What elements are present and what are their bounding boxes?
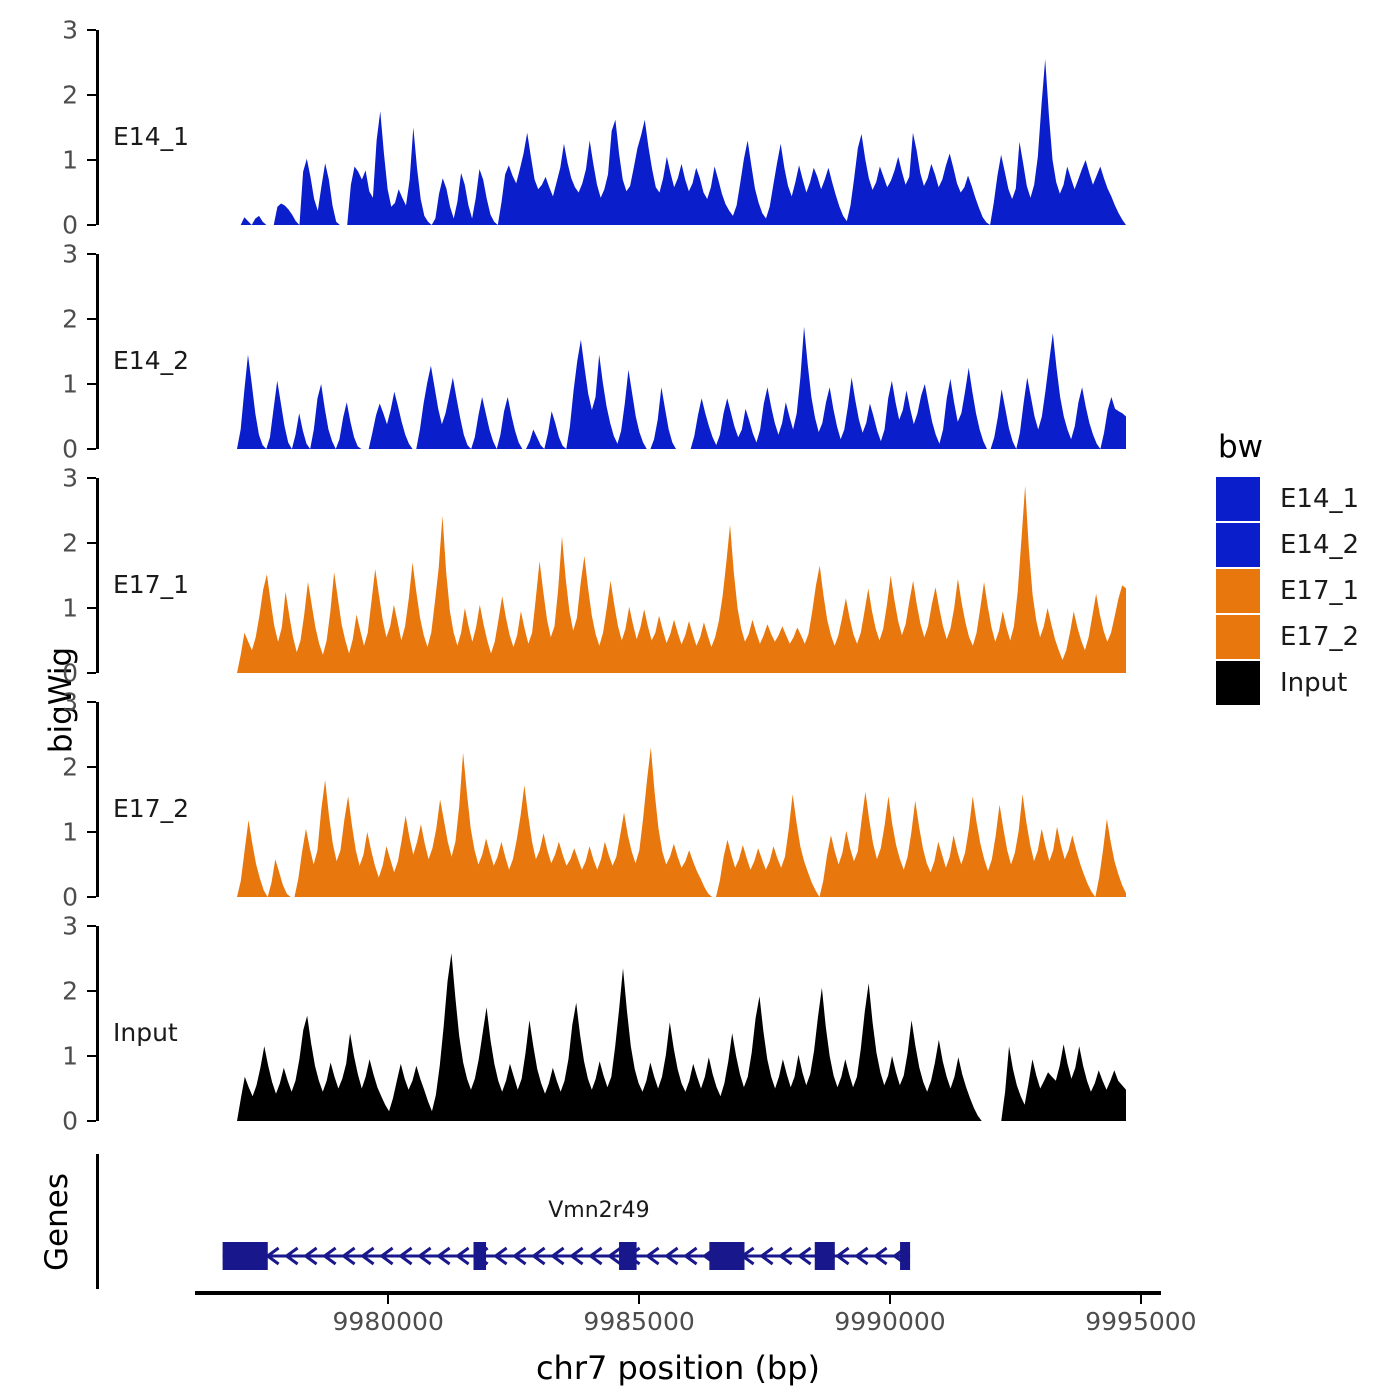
y-tick-label: 2 <box>38 531 78 556</box>
y-tick-label: 0 <box>38 437 78 462</box>
y-tick <box>87 477 96 479</box>
bigwig-track-e14_1: 0123E14_1 <box>96 30 1161 225</box>
track-area-plot <box>237 30 1126 225</box>
legend-color-swatch <box>1216 569 1260 613</box>
legend-title: bw <box>1218 432 1359 463</box>
x-tick-label: 9990000 <box>834 1307 945 1336</box>
y-tick <box>87 94 96 96</box>
y-tick <box>87 318 96 320</box>
legend-color-swatch <box>1216 477 1260 521</box>
y-tick <box>87 990 96 992</box>
track-area-path <box>237 327 1126 449</box>
track-name-label: E17_2 <box>113 794 189 823</box>
track-plot-area <box>237 702 1126 897</box>
genes-panel: GenesVmn2r49 <box>96 1154 1161 1289</box>
y-axis-line <box>96 926 99 1121</box>
y-tick <box>87 1120 96 1122</box>
x-tick-label: 9980000 <box>333 1307 444 1336</box>
track-name-label: E17_1 <box>113 570 189 599</box>
x-tick-label: 9985000 <box>583 1307 694 1336</box>
y-tick-label: 0 <box>38 885 78 910</box>
gene-exon-block <box>619 1242 637 1270</box>
y-tick-label: 3 <box>38 242 78 267</box>
track-area-path <box>237 486 1126 673</box>
track-plot-area <box>237 478 1126 673</box>
y-tick <box>87 831 96 833</box>
track-name-label: E14_2 <box>113 346 189 375</box>
y-tick <box>87 448 96 450</box>
y-axis-line <box>96 478 99 673</box>
bigwig-track-input: 0123Input <box>96 926 1161 1121</box>
legend-color-swatch <box>1216 523 1260 567</box>
y-tick-label: 3 <box>38 914 78 939</box>
legend: bw E14_1E14_2E17_1E17_2Input <box>1216 432 1359 705</box>
gene-exon-block <box>474 1242 487 1270</box>
y-tick <box>87 607 96 609</box>
bigwig-track-e17_2: 0123E17_2 <box>96 702 1161 897</box>
y-tick <box>87 925 96 927</box>
legend-item-e17_1[interactable]: E17_1 <box>1216 569 1359 613</box>
legend-item-input[interactable]: Input <box>1216 661 1359 705</box>
y-tick <box>87 1055 96 1057</box>
gene-exon-block <box>815 1242 835 1270</box>
legend-item-label: E14_1 <box>1280 486 1359 512</box>
track-plot-area <box>237 30 1126 225</box>
gene-exon-block <box>709 1242 744 1270</box>
legend-item-label: E14_2 <box>1280 532 1359 558</box>
y-tick-label: 2 <box>38 307 78 332</box>
bigwig-genome-browser-figure: bigWig 0123E14_10123E14_20123E17_10123E1… <box>0 0 1400 1400</box>
x-axis-title: chr7 position (bp) <box>536 1349 820 1387</box>
y-tick <box>87 766 96 768</box>
y-tick-label: 3 <box>38 466 78 491</box>
y-tick <box>87 701 96 703</box>
track-name-label: E14_1 <box>113 122 189 151</box>
y-tick-label: 3 <box>38 18 78 43</box>
y-tick <box>87 29 96 31</box>
x-axis-line <box>195 1291 1161 1295</box>
y-tick-label: 2 <box>38 755 78 780</box>
legend-item-label: E17_1 <box>1280 578 1359 604</box>
y-tick-label: 2 <box>38 83 78 108</box>
track-plot-area <box>237 254 1126 449</box>
legend-item-label: Input <box>1280 670 1347 696</box>
y-tick-label: 1 <box>38 148 78 173</box>
genes-axis-title: Genes <box>39 1173 75 1271</box>
legend-item-e14_1[interactable]: E14_1 <box>1216 477 1359 521</box>
bigwig-track-e17_1: 0123E17_1 <box>96 478 1161 673</box>
track-area-plot <box>237 478 1126 673</box>
x-tick <box>889 1295 891 1304</box>
track-area-plot <box>237 926 1126 1121</box>
bigwig-track-e14_2: 0123E14_2 <box>96 254 1161 449</box>
track-area-path <box>237 953 1126 1121</box>
y-tick <box>87 253 96 255</box>
y-tick-label: 2 <box>38 979 78 1004</box>
x-tick <box>638 1295 640 1304</box>
y-tick <box>87 383 96 385</box>
y-tick <box>87 224 96 226</box>
y-tick <box>87 159 96 161</box>
y-tick-label: 3 <box>38 690 78 715</box>
y-tick-label: 0 <box>38 213 78 238</box>
track-area-plot <box>237 254 1126 449</box>
y-axis-line <box>96 254 99 449</box>
x-tick <box>1140 1295 1142 1304</box>
track-area-path <box>237 748 1126 898</box>
track-area-path <box>237 59 1126 225</box>
y-tick-label: 1 <box>38 820 78 845</box>
y-tick <box>87 896 96 898</box>
legend-item-label: E17_2 <box>1280 624 1359 650</box>
track-plot-area <box>237 926 1126 1121</box>
legend-color-swatch <box>1216 615 1260 659</box>
y-tick-label: 0 <box>38 1109 78 1134</box>
track-name-label: Input <box>113 1018 178 1047</box>
x-tick <box>387 1295 389 1304</box>
gene-exon-block <box>900 1242 910 1270</box>
gene-exon-block <box>223 1242 268 1270</box>
legend-item-e17_2[interactable]: E17_2 <box>1216 615 1359 659</box>
y-axis-line <box>96 702 99 897</box>
track-area-plot <box>237 702 1126 897</box>
y-tick-label: 1 <box>38 372 78 397</box>
legend-item-e14_2[interactable]: E14_2 <box>1216 523 1359 567</box>
y-tick-label: 1 <box>38 1044 78 1069</box>
legend-color-swatch <box>1216 661 1260 705</box>
gene-model-canvas <box>96 1154 1161 1289</box>
y-tick <box>87 542 96 544</box>
x-tick-label: 9995000 <box>1085 1307 1196 1336</box>
y-tick <box>87 672 96 674</box>
y-axis-line <box>96 30 99 225</box>
y-tick-label: 1 <box>38 596 78 621</box>
y-tick-label: 0 <box>38 661 78 686</box>
legend-items: E14_1E14_2E17_1E17_2Input <box>1216 477 1359 705</box>
